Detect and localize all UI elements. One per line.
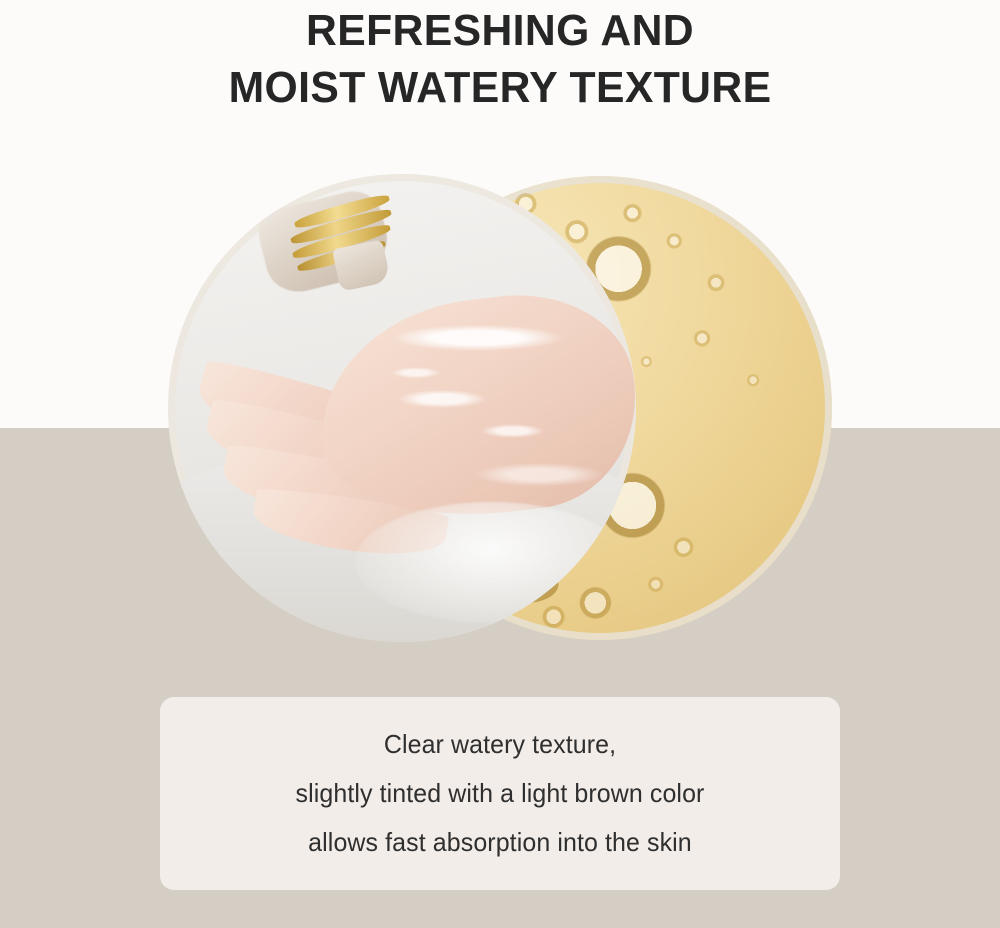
page-title: REFRESHING AND MOIST WATERY TEXTURE (15, 2, 985, 116)
hero-image-cluster (168, 174, 836, 642)
caption-line-3: allows fast absorption into the skin (296, 818, 705, 867)
caption-line-2: slightly tinted with a light brown color (296, 769, 705, 818)
clear-gel-pool (355, 502, 626, 624)
hand-with-clear-serum-image (168, 174, 636, 642)
headline-line-2: MOIST WATERY TEXTURE (15, 59, 985, 116)
caption-card: Clear watery texture, slightly tinted wi… (160, 697, 840, 890)
hand-scene (168, 174, 636, 642)
product-detail-page: REFRESHING AND MOIST WATERY TEXTURE (0, 0, 1000, 928)
caption-text: Clear watery texture, slightly tinted wi… (296, 720, 705, 867)
gold-dropper-cap-icon (252, 188, 420, 296)
caption-line-1: Clear watery texture, (296, 720, 705, 769)
headline-line-1: REFRESHING AND (15, 2, 985, 59)
dropper-tip (333, 239, 391, 292)
